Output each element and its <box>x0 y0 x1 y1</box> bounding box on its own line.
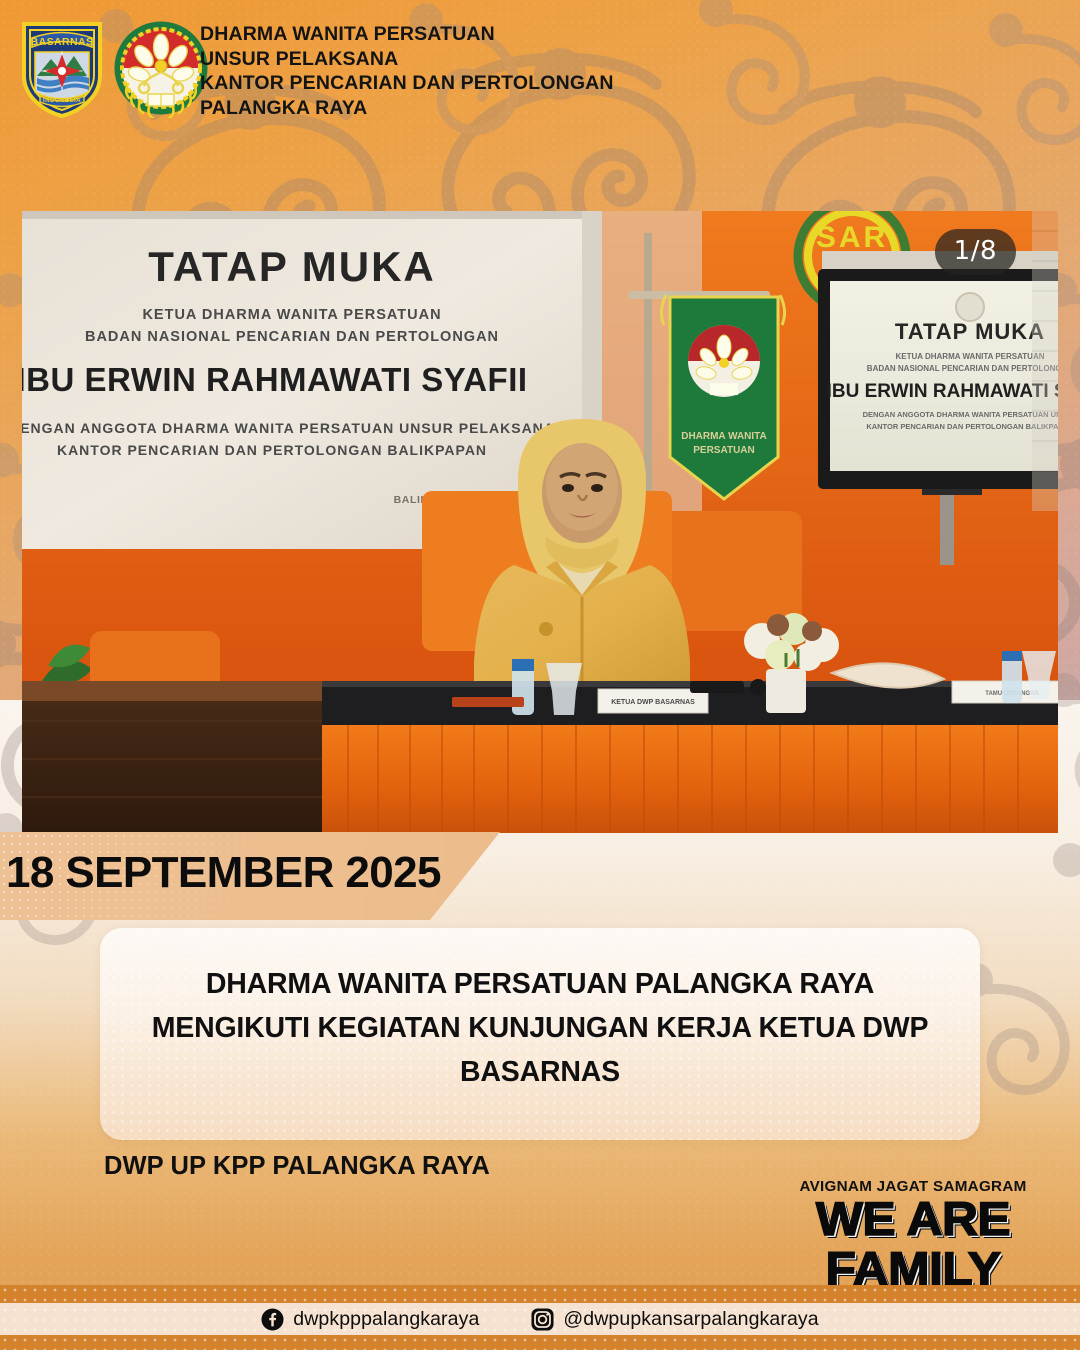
headline-line-1: DHARMA WANITA PERSATUAN PALANGKA RAYA <box>134 962 946 1006</box>
header-logos: BASARNAS INDONESIA <box>18 14 208 118</box>
footer-top-strip <box>0 1285 1080 1303</box>
social-facebook[interactable]: dwpkpppalangkaraya <box>261 1308 479 1331</box>
svg-text:BASARNAS: BASARNAS <box>31 36 94 48</box>
social-instagram[interactable]: @dwpupkansarpalangkaraya <box>531 1308 818 1331</box>
footer-socials: dwpkpppalangkaraya @dwpupkansarpalangkar… <box>0 1303 1080 1335</box>
svg-text:INDONESIA: INDONESIA <box>43 97 81 104</box>
carousel-counter: 1/8 <box>935 229 1016 275</box>
header: BASARNAS INDONESIA <box>0 0 1080 150</box>
svg-text:KETUA DHARMA WANITA PERSATUAN: KETUA DHARMA WANITA PERSATUAN <box>142 307 441 323</box>
headline-line-3: BASARNAS <box>134 1050 946 1094</box>
svg-text:KETUA DWP BASARNAS: KETUA DWP BASARNAS <box>611 699 695 706</box>
svg-text:BADAN NASIONAL PENCARIAN DAN P: BADAN NASIONAL PENCARIAN DAN PERTOLONGAN <box>85 329 499 345</box>
headline-card: DHARMA WANITA PERSATUAN PALANGKA RAYA ME… <box>100 928 980 1140</box>
svg-text:KETUA DHARMA WANITA PERSATUAN: KETUA DHARMA WANITA PERSATUAN <box>895 352 1044 361</box>
dwp-logo <box>114 14 208 118</box>
headline-line-2: MENGIKUTI KEGIATAN KUNJUNGAN KERJA KETUA… <box>134 1006 946 1050</box>
svg-text:DENGAN ANGGOTA DHARMA WANITA P: DENGAN ANGGOTA DHARMA WANITA PERSATUAN U… <box>863 410 1058 419</box>
svg-text:KANTOR PENCARIAN DAN PERTOLONG: KANTOR PENCARIAN DAN PERTOLONGAN BALIKPA… <box>866 422 1058 431</box>
facebook-handle: dwpkpppalangkaraya <box>293 1308 479 1331</box>
poster-canvas: BASARNAS INDONESIA <box>0 0 1080 1350</box>
date-label: 18 SEPTEMBER 2025 <box>6 848 441 898</box>
svg-text:IBU ERWIN RAHMAWATI SYAFII: IBU ERWIN RAHMAWATI SYAFII <box>22 361 528 398</box>
svg-text:TATAP MUKA: TATAP MUKA <box>895 319 1045 344</box>
facebook-icon <box>261 1308 284 1331</box>
footer-bottom-strip <box>0 1335 1080 1350</box>
instagram-icon <box>531 1308 554 1331</box>
header-title-block: DHARMA WANITA PERSATUAN UNSUR PELAKSANA … <box>200 22 614 120</box>
svg-text:BADAN NASIONAL PENCARIAN DAN P: BADAN NASIONAL PENCARIAN DAN PERTOLONGAN <box>867 364 1058 373</box>
event-photo-image: TATAP MUKA KETUA DHARMA WANITA PERSATUAN… <box>22 211 1058 833</box>
svg-text:TATAP MUKA: TATAP MUKA <box>148 243 436 290</box>
svg-text:DENGAN ANGGOTA DHARMA WANITA P: DENGAN ANGGOTA DHARMA WANITA PERSATUAN U… <box>22 420 555 436</box>
svg-text:DHARMA WANITA: DHARMA WANITA <box>681 431 767 442</box>
organization-label: DWP UP KPP PALANGKA RAYA <box>104 1152 490 1181</box>
header-line-2: UNSUR PELAKSANA <box>200 47 614 72</box>
header-line-3: KANTOR PENCARIAN DAN PERTOLONGAN <box>200 71 614 96</box>
event-photo: TATAP MUKA KETUA DHARMA WANITA PERSATUAN… <box>22 211 1058 833</box>
svg-text:PERSATUAN: PERSATUAN <box>693 445 754 456</box>
svg-text:KANTOR PENCARIAN DAN PERTOLONG: KANTOR PENCARIAN DAN PERTOLONGAN BALIKPA… <box>57 442 487 458</box>
tagline-headline: WE ARE FAMILY <box>759 1194 1066 1294</box>
svg-text:IBU ERWIN RAHMAWATI SYAFII: IBU ERWIN RAHMAWATI SYAFII <box>827 381 1058 402</box>
header-line-1: DHARMA WANITA PERSATUAN <box>200 22 614 47</box>
svg-text:SAR: SAR <box>816 221 888 254</box>
header-line-4: PALANGKA RAYA <box>200 96 614 121</box>
basarnas-logo: BASARNAS INDONESIA <box>18 14 106 118</box>
headline-text: DHARMA WANITA PERSATUAN PALANGKA RAYA ME… <box>100 928 980 1094</box>
instagram-handle: @dwpupkansarpalangkaraya <box>563 1308 818 1331</box>
